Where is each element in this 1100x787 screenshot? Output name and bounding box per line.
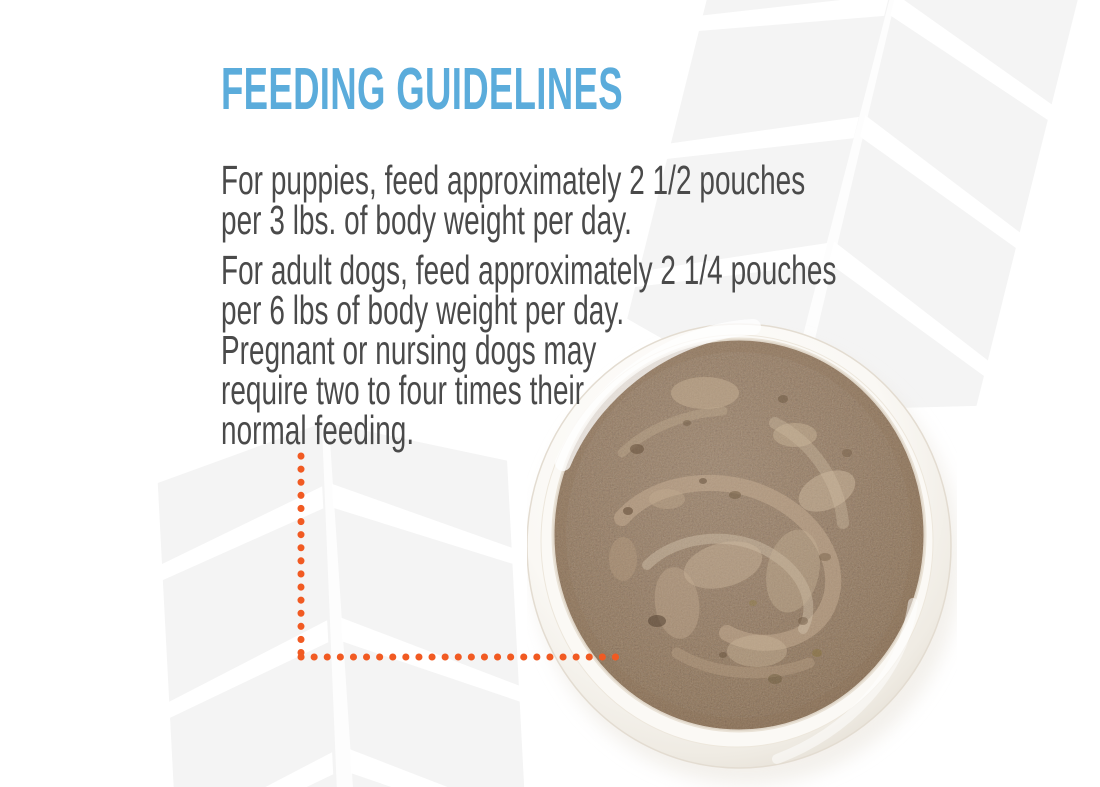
feeding-paragraph-puppies: For puppies, feed approximately 2 1/2 po… bbox=[221, 160, 805, 240]
feeding-paragraph-adults: For adult dogs, feed approximately 2 1/4… bbox=[221, 250, 836, 450]
feeding-guidelines-panel: FEEDING GUIDELINES For puppies, feed app… bbox=[0, 0, 1100, 787]
text-content: FEEDING GUIDELINES For puppies, feed app… bbox=[0, 0, 1100, 787]
page-title: FEEDING GUIDELINES bbox=[221, 58, 623, 120]
